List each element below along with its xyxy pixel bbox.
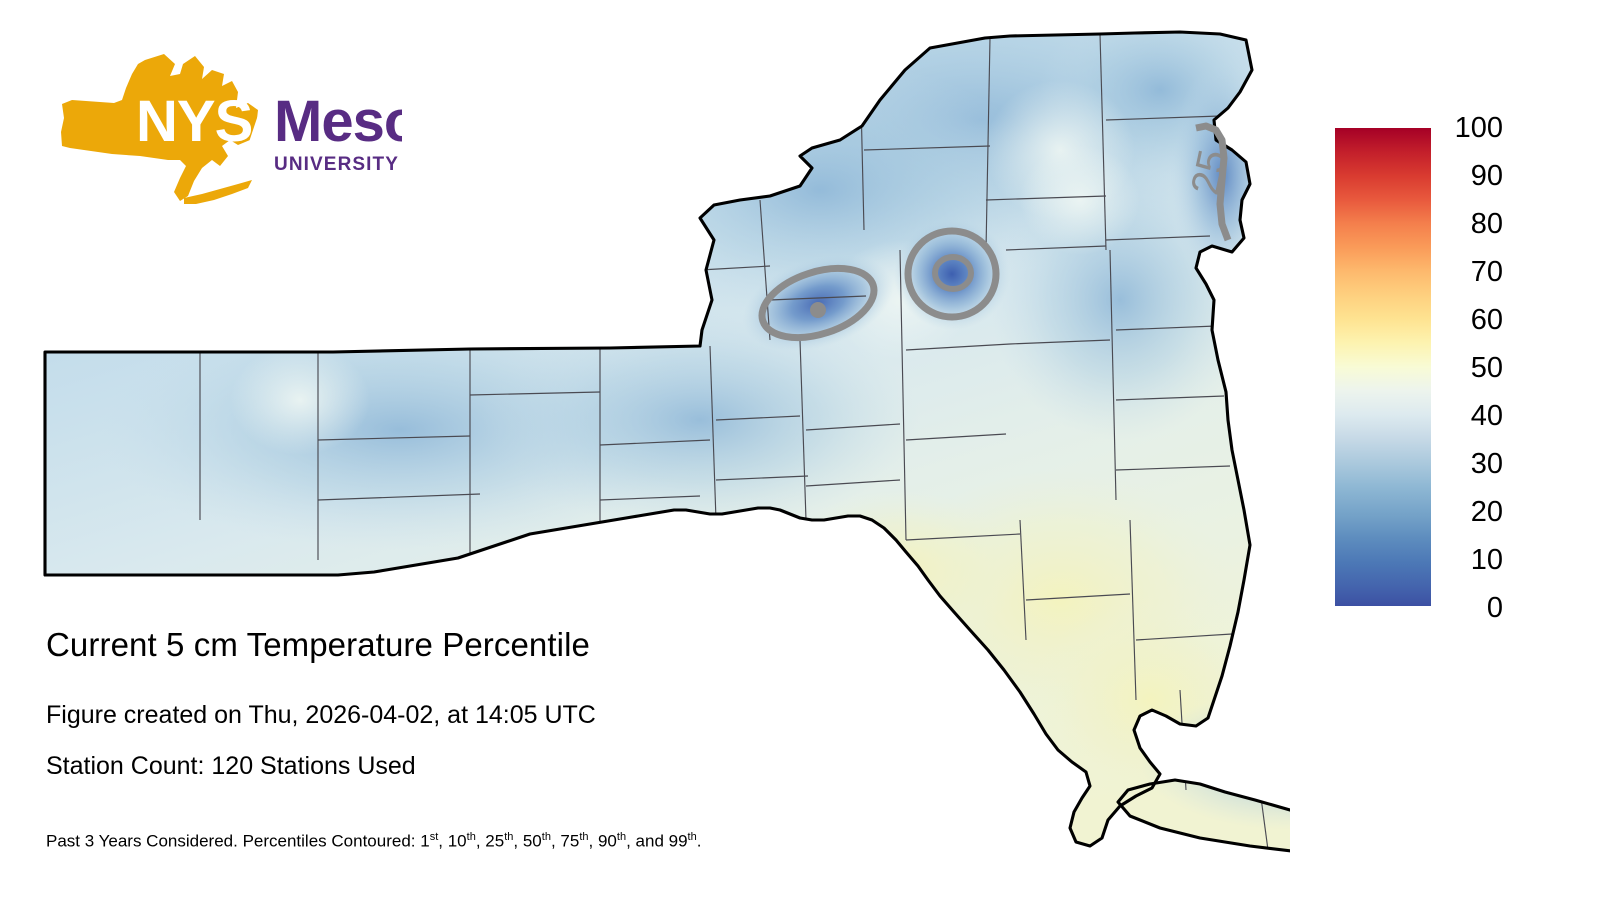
contour-10-west [810, 302, 826, 318]
page-title: Current 5 cm Temperature Percentile [46, 625, 590, 665]
contour-label-25: 25 [1183, 146, 1235, 199]
colorbar-tick-60: 60 [1471, 306, 1503, 335]
colorbar-tick-10: 10 [1471, 546, 1503, 575]
field-warm-southern-tier [780, 490, 1020, 650]
svg-text:25: 25 [1183, 146, 1235, 199]
colorbar-tick-40: 40 [1471, 402, 1503, 431]
colorbar-tick-30: 30 [1471, 450, 1503, 479]
colorbar-tick-70: 70 [1471, 258, 1503, 287]
colorbar-tick-labels: 100 90 80 70 60 50 40 30 20 10 0 [1437, 108, 1503, 628]
colorbar-tick-50: 50 [1471, 354, 1503, 383]
contour-footnote: Past 3 Years Considered. Percentiles Con… [46, 826, 701, 853]
colorbar-tick-100: 100 [1455, 114, 1503, 143]
field-pale-3 [1020, 145, 1140, 255]
station-count-text: Station Count: 120 Stations Used [46, 751, 416, 781]
colorbar-tick-0: 0 [1487, 594, 1503, 623]
figure-created-text: Figure created on Thu, 2026-04-02, at 14… [46, 700, 596, 730]
colorbar-tick-20: 20 [1471, 498, 1503, 527]
colorbar-gradient [1335, 128, 1431, 606]
colorbar-tick-90: 90 [1471, 162, 1503, 191]
field-pale-4 [230, 345, 370, 455]
colorbar [1335, 128, 1431, 606]
colorbar-tick-80: 80 [1471, 210, 1503, 239]
